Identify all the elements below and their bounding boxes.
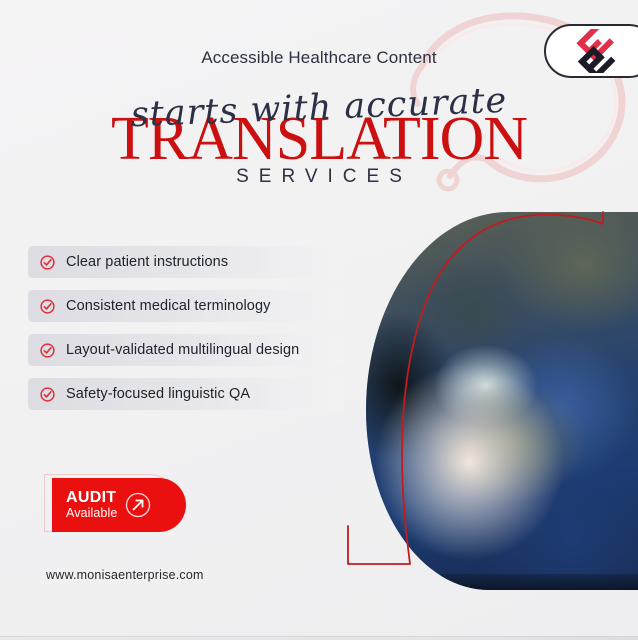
brand-logo-badge[interactable] <box>544 24 638 78</box>
feature-list: Clear patient instructions Consistent me… <box>28 246 344 422</box>
monisa-monogram-icon <box>566 29 628 73</box>
kicker-text: Accessible Healthcare Content <box>0 48 638 68</box>
audit-title: AUDIT <box>66 490 117 507</box>
audit-badge[interactable]: AUDIT Available <box>44 474 194 534</box>
list-item[interactable]: Consistent medical terminology <box>28 290 344 322</box>
list-item-label: Consistent medical terminology <box>66 298 270 314</box>
check-circle-icon <box>40 255 55 270</box>
list-item[interactable]: Layout-validated multilingual design <box>28 334 344 366</box>
list-item-label: Clear patient instructions <box>66 254 228 270</box>
audit-badge-text: AUDIT Available <box>66 490 117 520</box>
bottom-edge-strip <box>0 636 638 640</box>
list-item-label: Safety-focused linguistic QA <box>66 386 250 402</box>
photo-bottom-shadow <box>366 574 638 590</box>
check-circle-icon <box>40 343 55 358</box>
arrow-up-right-icon[interactable] <box>123 490 153 520</box>
promotional-poster: Accessible Healthcare Content starts wit… <box>0 0 638 640</box>
photo-image <box>366 212 638 590</box>
page-subtitle: SERVICES <box>0 166 638 188</box>
website-url[interactable]: www.monisaenterprise.com <box>46 568 204 582</box>
list-item[interactable]: Safety-focused linguistic QA <box>28 378 344 410</box>
surgeon-photo <box>366 212 638 590</box>
audit-subtitle: Available <box>66 507 117 520</box>
list-item-label: Layout-validated multilingual design <box>66 342 299 358</box>
list-item[interactable]: Clear patient instructions <box>28 246 344 278</box>
check-circle-icon <box>40 299 55 314</box>
check-circle-icon <box>40 387 55 402</box>
audit-badge-body[interactable]: AUDIT Available <box>52 478 186 532</box>
